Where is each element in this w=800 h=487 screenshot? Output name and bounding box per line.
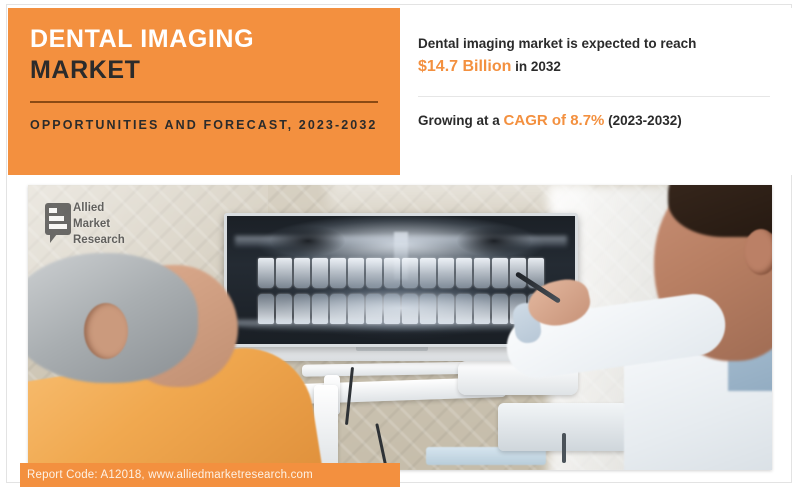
stat-cagr-value: CAGR of 8.7% (504, 112, 605, 129)
stat-market-size-value: $14.7 Billion (418, 58, 511, 75)
stat-market-size: Dental imaging market is expected to rea… (418, 34, 776, 80)
stat-market-size-prefix: Dental imaging market is expected to rea… (418, 36, 696, 51)
stat-cagr-text: Growing at a CAGR of 8.7% (2023-2032) (418, 109, 776, 132)
stats-panel: Dental imaging market is expected to rea… (400, 8, 792, 175)
logo-text-line3: Research (73, 233, 125, 249)
stats-divider (418, 96, 770, 97)
page-subtitle: OPPORTUNITIES AND FORECAST, 2023-2032 (30, 116, 378, 135)
stat-market-size-suffix: in 2032 (515, 59, 561, 74)
speech-bubble-icon (45, 203, 71, 235)
equipment-tool (562, 433, 566, 463)
title-divider (30, 101, 378, 103)
logo-text-line1: Allied (73, 201, 125, 217)
hero-photo: Allied Market Research (28, 185, 772, 470)
infographic-card: DENTAL IMAGING MARKET OPPORTUNITIES AND … (0, 0, 800, 487)
page-title-line2: MARKET (30, 55, 378, 86)
footer-report-code: Report Code: A12018, www.alliedmarketres… (27, 469, 313, 481)
dentist-ear (744, 229, 772, 275)
stat-market-size-text: Dental imaging market is expected to rea… (418, 34, 776, 80)
xray-sinus-right (457, 226, 531, 256)
xray-sinus-left (271, 226, 345, 256)
title-panel: DENTAL IMAGING MARKET OPPORTUNITIES AND … (8, 8, 400, 175)
xray-upper-arch (257, 258, 545, 288)
stat-cagr-suffix: (2023-2032) (608, 113, 682, 128)
stat-cagr-prefix: Growing at a (418, 113, 500, 128)
logo-text-line2: Market (73, 217, 125, 233)
patient-ear (84, 303, 128, 359)
allied-market-research-logo: Allied Market Research (45, 201, 141, 253)
footer-bar: Report Code: A12018, www.alliedmarketres… (20, 463, 400, 487)
page-title-line1: DENTAL IMAGING (30, 24, 378, 55)
stat-cagr: Growing at a CAGR of 8.7% (2023-2032) (418, 109, 776, 132)
logo-text: Allied Market Research (73, 201, 125, 249)
